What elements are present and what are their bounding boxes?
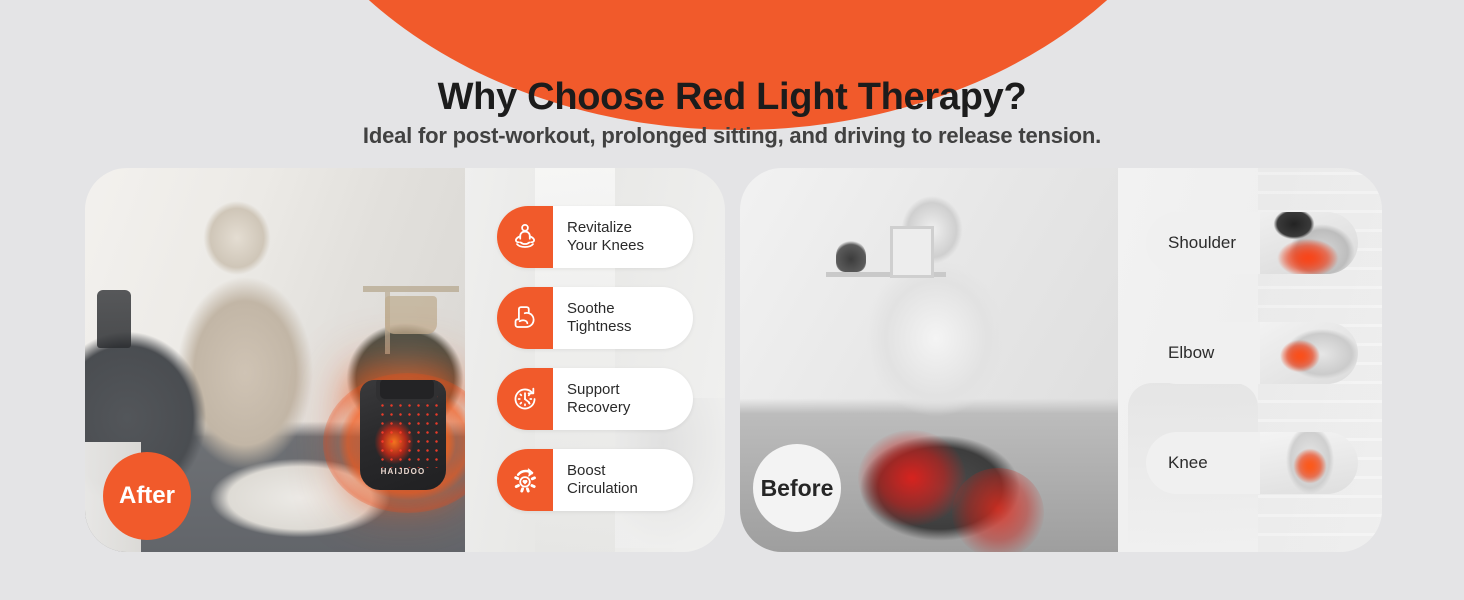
flexed-bicep-icon — [497, 287, 553, 349]
body-part-label: Shoulder — [1146, 233, 1260, 253]
clock-recovery-icon — [497, 368, 553, 430]
device-brand-label: HAIJDOO — [360, 467, 446, 476]
after-card: HAIJDOO — [85, 168, 725, 552]
body-part-item-knee[interactable]: Knee — [1146, 432, 1358, 494]
feature-item-support-recovery[interactable]: Support Recovery — [497, 368, 693, 430]
feature-list: Revitalize Your Knees Soothe Tightness — [497, 206, 709, 530]
elbow-pain-photo — [1260, 322, 1358, 384]
body-part-list: Shoulder Elbow Knee — [1146, 212, 1378, 542]
shoulder-pain-photo — [1260, 212, 1358, 274]
body-part-item-shoulder[interactable]: Shoulder — [1146, 212, 1358, 274]
before-badge-label: Before — [761, 475, 834, 502]
page-title: Why Choose Red Light Therapy? — [0, 74, 1464, 120]
device-strap — [376, 380, 438, 403]
feature-label: Support Recovery — [553, 381, 693, 417]
after-badge-label: After — [119, 482, 175, 510]
after-badge: After — [103, 452, 191, 540]
feature-label: Boost Circulation — [553, 462, 693, 498]
promo-banner: Why Choose Red Light Therapy? Ideal for … — [0, 0, 1464, 600]
lamp-decor — [97, 290, 131, 348]
body-part-item-elbow[interactable]: Elbow — [1146, 322, 1358, 384]
side-table-decor — [363, 286, 459, 292]
knee-pain-photo — [1260, 432, 1358, 494]
feature-item-revitalize[interactable]: Revitalize Your Knees — [497, 206, 693, 268]
before-badge: Before — [753, 444, 841, 532]
picture-frame-decor — [890, 226, 934, 278]
feature-label: Soothe Tightness — [553, 300, 693, 336]
body-part-label: Elbow — [1146, 343, 1260, 363]
feature-item-boost-circulation[interactable]: Boost Circulation — [497, 449, 693, 511]
page-subtitle: Ideal for post-workout, prolonged sittin… — [0, 122, 1464, 150]
led-array-icon — [378, 392, 440, 468]
feature-label: Revitalize Your Knees — [553, 219, 693, 255]
heart-circulation-icon — [497, 449, 553, 511]
yoga-meditation-icon — [497, 206, 553, 268]
before-card: Shoulder Elbow Knee Before — [740, 168, 1382, 552]
plant-decor — [836, 240, 866, 272]
knee-massager-device: HAIJDOO — [360, 380, 446, 490]
basket-decor — [385, 296, 437, 334]
feature-item-soothe[interactable]: Soothe Tightness — [497, 287, 693, 349]
body-part-label: Knee — [1146, 453, 1260, 473]
